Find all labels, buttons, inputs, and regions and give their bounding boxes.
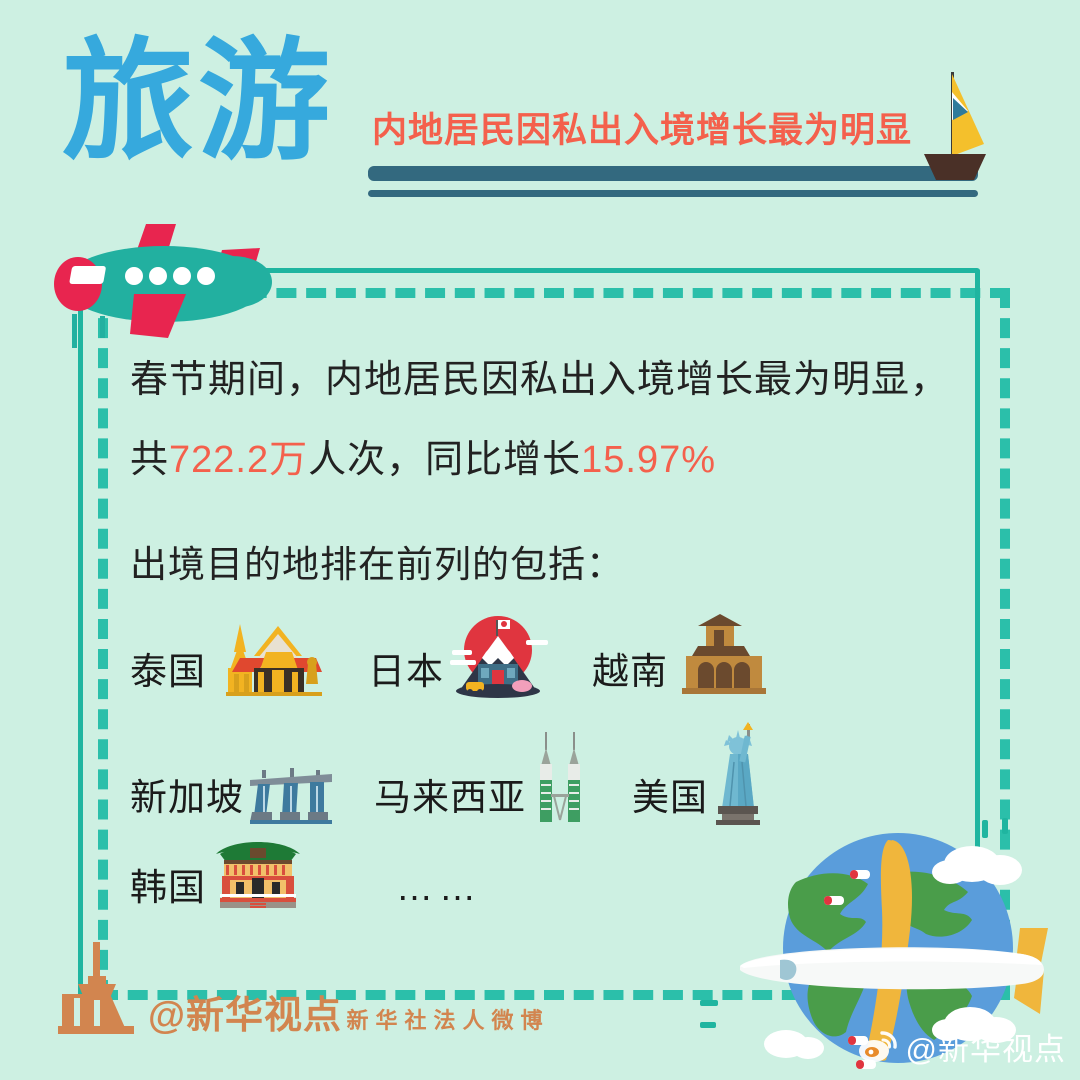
- malaysia-petronas-towers-icon: [530, 730, 590, 831]
- destinations-lead-in: 出境目的地排在前列的包括：: [130, 542, 624, 588]
- destination-vietnam: 越南: [592, 612, 772, 705]
- page-title: 旅游: [62, 36, 334, 168]
- sailboat-icon: [898, 58, 1008, 193]
- usa-statue-of-liberty-icon: [712, 722, 764, 831]
- airplane-icon: [34, 222, 324, 357]
- destination-label: 马来西亚: [374, 777, 526, 831]
- destination-label: 泰国: [130, 651, 206, 705]
- destination-japan: 日本: [368, 612, 552, 705]
- destination-label: 日本: [368, 651, 444, 705]
- destination-korea: 韩国: [130, 832, 306, 921]
- body-line-2-prefix: 共: [130, 439, 169, 481]
- destination-label: 韩国: [130, 867, 206, 921]
- destination-malaysia: 马来西亚: [374, 730, 590, 831]
- destination-singapore: 新加坡: [130, 754, 334, 831]
- body-text: 春节期间，内地居民因私出入境增长最为明显， 共722.2万人次，同比增长15.9…: [130, 340, 960, 500]
- weibo-icon: [858, 1029, 900, 1070]
- vietnam-temple-icon: [672, 612, 772, 705]
- thailand-grand-palace-icon: [210, 612, 326, 705]
- destination-label: 越南: [592, 651, 668, 705]
- destination-label: 新加坡: [130, 777, 244, 831]
- brand-logo: @新华视点 新华社法人微博: [58, 942, 550, 1039]
- body-line-2: 共722.2万人次，同比增长15.97%: [130, 420, 960, 500]
- weibo-watermark-text: @新华视点: [906, 1033, 1066, 1067]
- xinhua-monument-icon: [58, 942, 138, 1039]
- singapore-marina-bay-sands-icon: [248, 754, 334, 831]
- korea-gyeongbokgung-icon: [210, 832, 306, 921]
- destination-usa: 美国: [632, 722, 764, 831]
- destination-thailand: 泰国: [130, 612, 326, 705]
- brand-logo-primary: @新华视点: [148, 995, 342, 1037]
- infographic-poster: 旅游 内地居民因私出入境增长最为明显: [0, 0, 1080, 1080]
- title-rule-thin: [368, 190, 978, 197]
- destination-label: 美国: [632, 777, 708, 831]
- page-subtitle: 内地居民因私出入境增长最为明显: [372, 112, 912, 150]
- body-line-2-middle: 人次，同比增长: [308, 439, 581, 481]
- weibo-watermark: @新华视点: [858, 1029, 1066, 1070]
- destination-row: 泰国: [130, 612, 772, 705]
- brand-logo-secondary: 新华社法人微博: [347, 1008, 550, 1033]
- brand-logo-text: @新华视点 新华社法人微博: [148, 995, 550, 1039]
- japan-mount-fuji-icon: [448, 612, 552, 705]
- stat-growth-percent: 15.97%: [581, 439, 716, 481]
- title-rule-thick: [368, 166, 978, 181]
- destination-row: 新加坡: [130, 722, 764, 831]
- stat-travelers: 722.2万: [169, 439, 308, 481]
- destination-ellipsis: ……: [396, 867, 482, 921]
- body-line-1: 春节期间，内地居民因私出入境增长最为明显，: [130, 340, 960, 420]
- destination-row: 韩国: [130, 832, 482, 921]
